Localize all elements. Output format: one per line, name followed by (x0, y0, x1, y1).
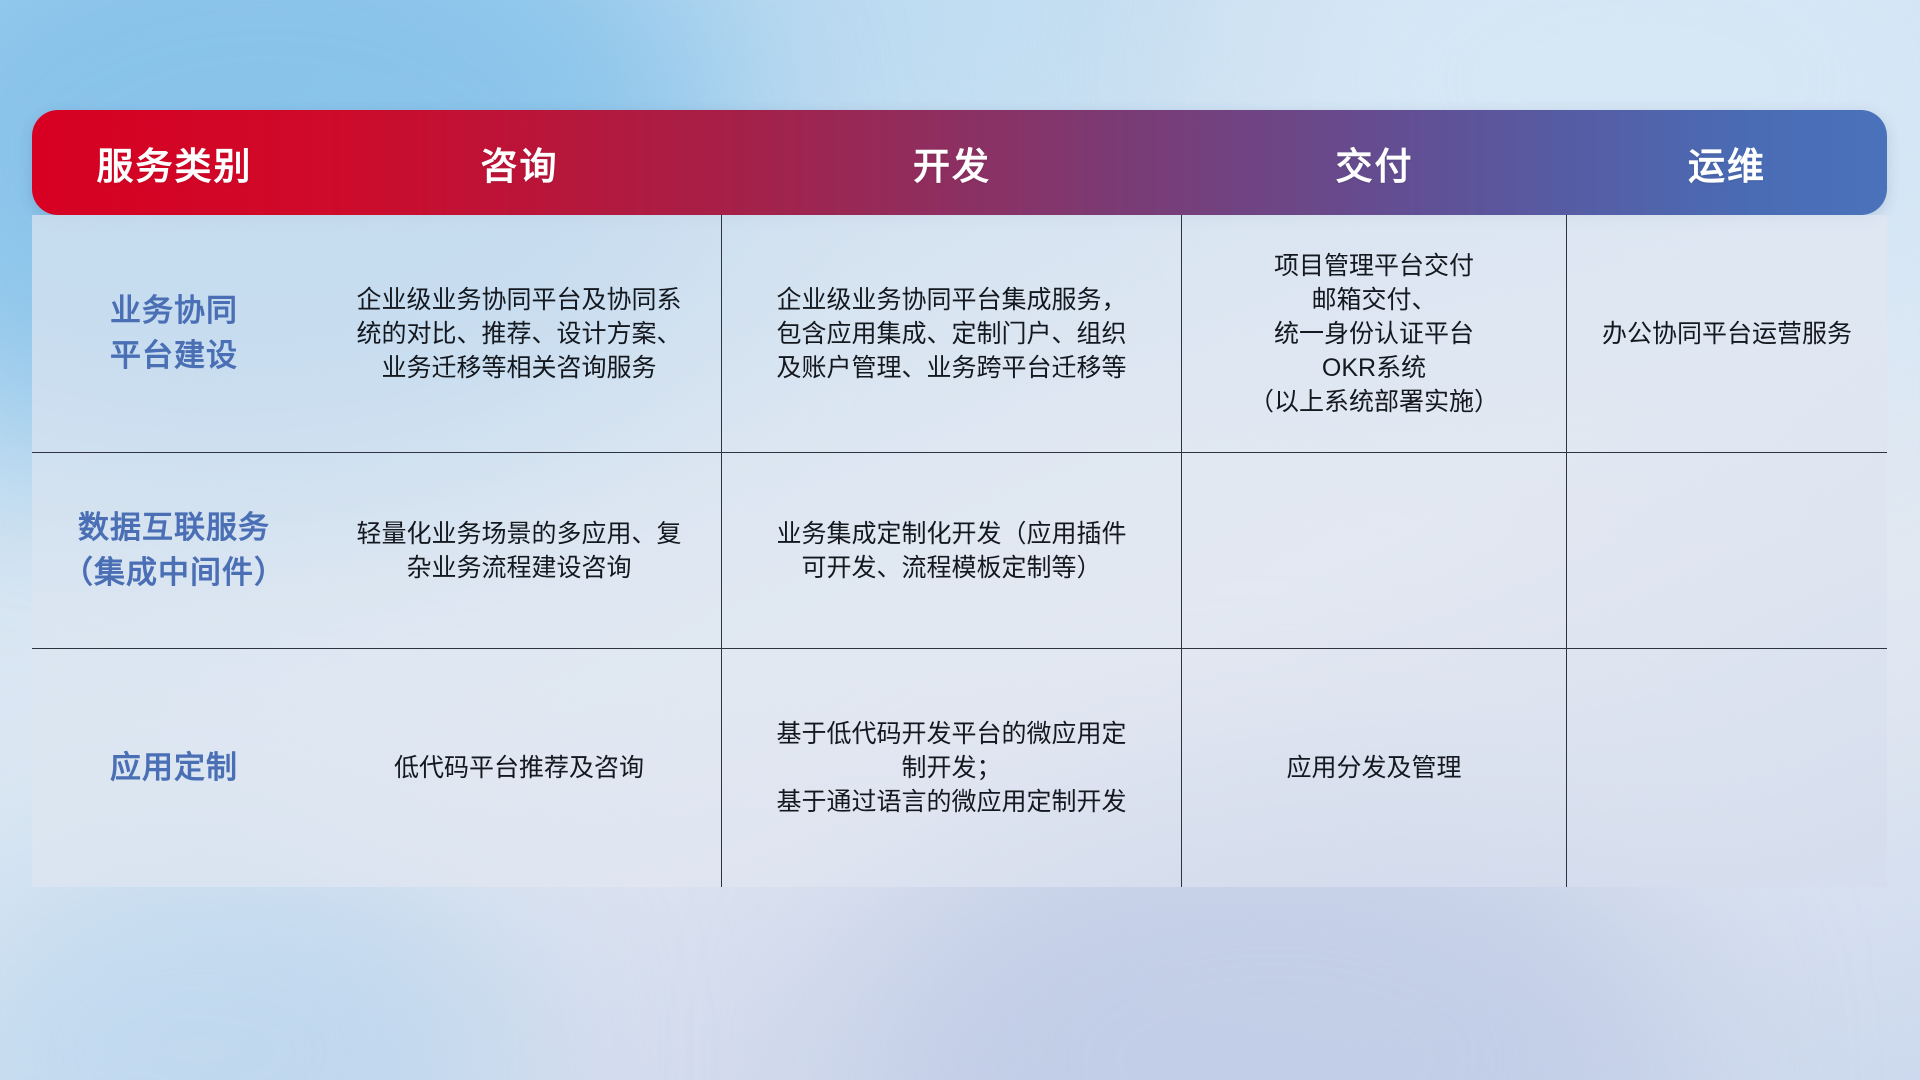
cell-text: 企业级业务协同平台集成服务， 包含应用集成、定制门户、组织 及账户管理、业务跨平… (776, 283, 1126, 385)
cell-delivery: 应用分发及管理 (1182, 649, 1567, 887)
table-header-delivery: 交付 (1182, 110, 1567, 215)
table-body: 业务协同 平台建设 企业级业务协同平台及协同系 统的对比、推荐、设计方案、 业务… (32, 215, 1887, 887)
cell-consulting: 企业级业务协同平台及协同系 统的对比、推荐、设计方案、 业务迁移等相关咨询服务 (317, 215, 722, 452)
cell-text: 低代码平台推荐及咨询 (394, 751, 644, 785)
cell-text: 项目管理平台交付 邮箱交付、 统一身份认证平台 OKR系统 （以上系统部署实施） (1249, 249, 1499, 419)
cell-operations (1567, 649, 1887, 887)
cell-development: 基于低代码开发平台的微应用定 制开发； 基于通过语言的微应用定制开发 (722, 649, 1182, 887)
header-label: 咨询 (481, 136, 559, 190)
cell-category: 业务协同 平台建设 (32, 215, 317, 452)
table-header-row: 服务类别 咨询 开发 交付 运维 (32, 110, 1887, 215)
table-row: 应用定制 低代码平台推荐及咨询 基于低代码开发平台的微应用定 制开发； 基于通过… (32, 649, 1887, 887)
cell-operations: 办公协同平台运营服务 (1567, 215, 1887, 452)
table-row: 数据互联服务 （集成中间件） 轻量化业务场景的多应用、复 杂业务流程建设咨询 业… (32, 453, 1887, 649)
cell-text: 应用定制 (110, 746, 238, 790)
table-header-development: 开发 (722, 110, 1182, 215)
table-header-consulting: 咨询 (317, 110, 722, 215)
cell-category: 数据互联服务 （集成中间件） (32, 453, 317, 648)
header-label: 交付 (1336, 136, 1414, 190)
header-label: 运维 (1688, 136, 1766, 190)
cell-text: 办公协同平台运营服务 (1602, 317, 1852, 351)
cell-development: 企业级业务协同平台集成服务， 包含应用集成、定制门户、组织 及账户管理、业务跨平… (722, 215, 1182, 452)
header-label: 服务类别 (97, 136, 253, 190)
cell-operations (1567, 453, 1887, 648)
table-row: 业务协同 平台建设 企业级业务协同平台及协同系 统的对比、推荐、设计方案、 业务… (32, 215, 1887, 453)
header-label: 开发 (913, 136, 991, 190)
cell-consulting: 轻量化业务场景的多应用、复 杂业务流程建设咨询 (317, 453, 722, 648)
cell-category: 应用定制 (32, 649, 317, 887)
cell-delivery: 项目管理平台交付 邮箱交付、 统一身份认证平台 OKR系统 （以上系统部署实施） (1182, 215, 1567, 452)
slide-canvas: 服务类别 咨询 开发 交付 运维 业务协同 平台建设 企业级业务协同平台及协同 (0, 0, 1920, 1080)
cell-text: 企业级业务协同平台及协同系 统的对比、推荐、设计方案、 业务迁移等相关咨询服务 (356, 283, 681, 385)
cell-text: 轻量化业务场景的多应用、复 杂业务流程建设咨询 (356, 517, 681, 585)
cell-text: 数据互联服务 （集成中间件） (62, 506, 286, 594)
service-matrix-table: 服务类别 咨询 开发 交付 运维 业务协同 平台建设 企业级业务协同平台及协同 (32, 110, 1887, 887)
cell-consulting: 低代码平台推荐及咨询 (317, 649, 722, 887)
cell-text: 业务集成定制化开发（应用插件 可开发、流程模板定制等） (776, 517, 1126, 585)
cell-text: 应用分发及管理 (1286, 751, 1461, 785)
cell-text: 基于低代码开发平台的微应用定 制开发； 基于通过语言的微应用定制开发 (776, 717, 1126, 819)
table-header-operations: 运维 (1567, 110, 1887, 215)
cell-development: 业务集成定制化开发（应用插件 可开发、流程模板定制等） (722, 453, 1182, 648)
cell-text: 业务协同 平台建设 (110, 289, 238, 377)
cell-delivery (1182, 453, 1567, 648)
table-header-service-category: 服务类别 (32, 110, 317, 215)
